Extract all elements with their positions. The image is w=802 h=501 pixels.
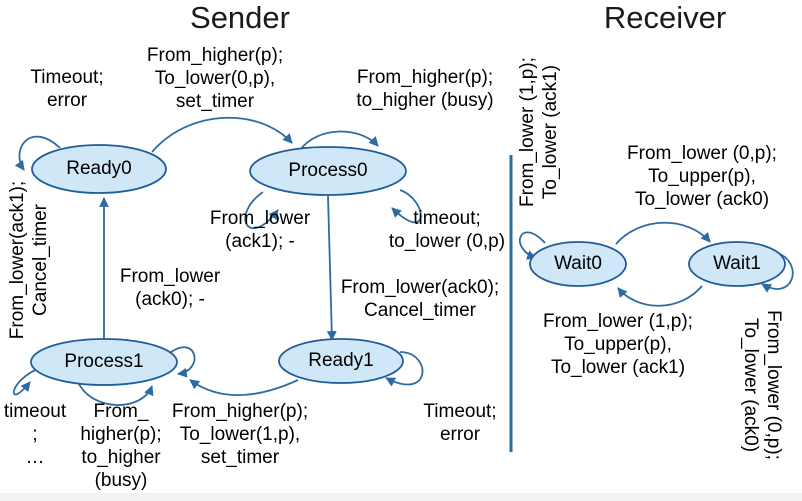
page-title-receiver: Receiver [575,1,755,35]
edge-label-process1-to-ready0-rotated: From_lower(ack1); Cancel_timer [6,180,52,340]
edge-label-wait1-self-rotated: From_lower (0,p); To_lower (ack0) [739,300,785,470]
edge-label-wait1-to-wait0: From_lower (1,p); To_upper(p), To_lower … [520,310,716,379]
page-title-sender: Sender [150,1,330,35]
edge-label-ready0-to-process0: From_higher(p); To_lower(0,p), set_timer [135,44,295,113]
state-node-wait1[interactable] [689,242,785,286]
edge-label-ready1-to-process1: From_higher(p); To_lower(1,p), set_timer [150,400,330,469]
edge-label-process0-self-top: From_higher(p); to_higher (busy) [330,66,520,112]
edge-ready1-to-process1 [190,380,298,395]
edge-label-ready1-self: Timeout; error [400,400,520,446]
edge-label-wait0-to-wait1: From_lower (0,p); To_upper(p), To_lower … [604,142,800,211]
edge-label-ready0-self: Timeout; error [2,66,132,112]
edge-label-process0-to-ready1: From_lower(ack0); Cancel_timer [330,276,510,322]
state-node-wait0[interactable] [530,242,626,286]
state-node-ready0[interactable] [32,145,166,193]
state-diagram-canvas: Sender Receiver Ready0 Process0 Process1… [0,0,802,501]
edge-label-wait0-self-rotated: From_lower (1,p); To_lower (ack1) [516,42,562,222]
edge-label-process1-self-left: timeout ; … [0,400,72,469]
edge-wait1-to-wait0 [618,286,702,306]
state-node-process0[interactable] [250,147,406,195]
edge-process1-self-left [14,368,40,394]
edge-ready0-to-process0 [152,118,292,152]
edge-label-process0-self-left: From_lower (ack1); - [190,207,330,253]
edge-wait0-to-wait1 [616,223,710,244]
state-node-ready1[interactable] [279,339,403,383]
bottom-bar [0,493,802,501]
edge-label-process0-self-right: timeout; to_lower (0,p) [367,207,527,253]
state-node-process1[interactable] [31,339,177,385]
edge-label-process1-to-ready0: From_lower (ack0); - [100,265,240,311]
